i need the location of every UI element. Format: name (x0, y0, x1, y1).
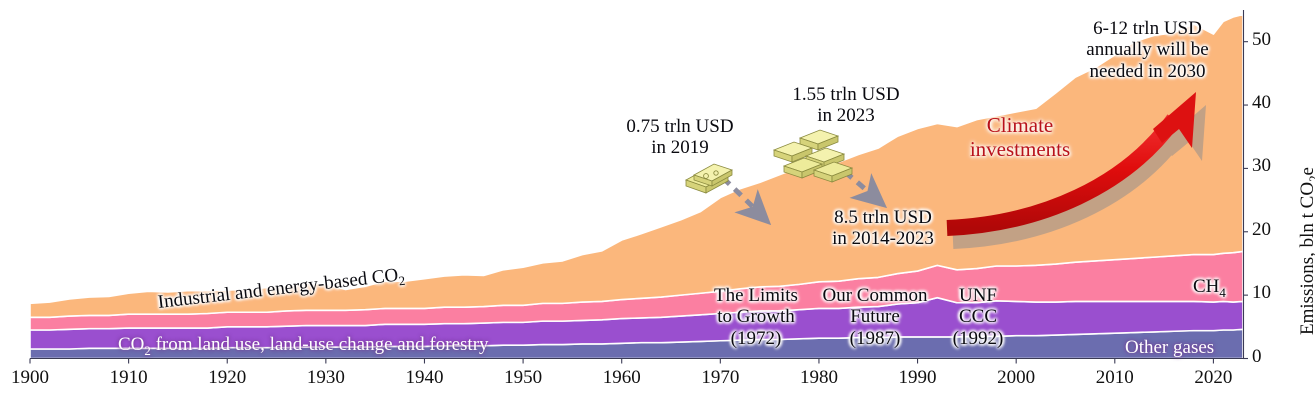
milestone-line: Our Common (816, 285, 934, 306)
x-tick-label: 1910 (103, 367, 155, 389)
annotation-line: in 2019 (600, 137, 760, 158)
annotation-invest-2030: 6-12 trln USD annually will be needed in… (1060, 18, 1235, 82)
chart-root: 0.75 trln USD in 2019 1.55 trln USD in 2… (0, 0, 1315, 406)
annotation-line: 6-12 trln USD (1060, 18, 1235, 39)
money-stack-icon (686, 164, 732, 193)
y-tick-label: 0 (1252, 346, 1262, 368)
milestone-limits-to-growth: The Limits to Growth (1972) (701, 285, 811, 349)
x-tick-label: 1960 (596, 367, 648, 389)
annotation-invest-decade: 8.5 trln USD in 2014-2023 (803, 207, 963, 250)
annotation-line: 0.75 trln USD (600, 116, 760, 137)
x-tick-label: 1970 (694, 367, 746, 389)
x-tick-label: 1980 (793, 367, 845, 389)
x-tick-label: 2010 (1089, 367, 1141, 389)
y-tick-label: 10 (1252, 282, 1271, 304)
annotation-line: 8.5 trln USD (803, 207, 963, 228)
milestone-line: CCC (940, 306, 1016, 327)
area-label-other-gases: Other gases (1125, 337, 1214, 358)
y-axis-title-text: Emissions, bln t CO (1297, 182, 1315, 335)
y-tick-label: 50 (1252, 29, 1271, 51)
y-tick-label: 40 (1252, 92, 1271, 114)
y-tick-label: 20 (1252, 219, 1271, 241)
annotation-line: in 2014-2023 (803, 228, 963, 249)
area-label-sub: 4 (1219, 285, 1225, 300)
annotation-climate-investments: Climate investments (950, 114, 1090, 161)
milestone-line: UNF (940, 285, 1016, 306)
milestone-line: (1987) (816, 328, 934, 349)
y-tick-label: 30 (1252, 155, 1271, 177)
area-label-text2: from land use, land-use change and fores… (151, 334, 489, 355)
x-tick-label: 1990 (892, 367, 944, 389)
annotation-invest-2023: 1.55 trln USD in 2023 (766, 84, 926, 127)
annotation-line: in 2023 (766, 105, 926, 126)
x-tick-label: 2020 (1187, 367, 1239, 389)
milestone-our-common-future: Our Common Future (1987) (816, 285, 934, 349)
annotation-line: investments (950, 138, 1090, 162)
annotation-line: Climate (950, 114, 1090, 138)
annotation-line: needed in 2030 (1060, 61, 1235, 82)
y-axis-title: Emissions, bln t CO2e (1297, 167, 1315, 335)
milestone-line: (1972) (701, 328, 811, 349)
milestone-line: Future (816, 306, 934, 327)
y-axis-title-suffix: e (1297, 167, 1315, 175)
milestone-unfccc: UNF CCC (1992) (940, 285, 1016, 349)
milestone-line: to Growth (701, 306, 811, 327)
annotation-line: 1.55 trln USD (766, 84, 926, 105)
x-tick-label: 1930 (300, 367, 352, 389)
x-tick-label: 1900 (4, 367, 56, 389)
annotation-invest-2019: 0.75 trln USD in 2019 (600, 116, 760, 159)
x-tick-label: 1950 (497, 367, 549, 389)
area-label-landuse-co2: CO2 from land use, land-use change and f… (118, 334, 489, 358)
milestone-line: The Limits (701, 285, 811, 306)
x-tick-label: 2000 (990, 367, 1042, 389)
y-axis-title-sub: 2 (1306, 175, 1315, 181)
area-label-text: Other gases (1125, 337, 1214, 358)
area-label-text: CH (1193, 276, 1219, 297)
area-label-ch4: CH4 (1193, 276, 1226, 300)
x-tick-label: 1940 (398, 367, 450, 389)
x-tick-label: 1920 (201, 367, 253, 389)
annotation-line: annually will be (1060, 39, 1235, 60)
area-label-text: CO (118, 334, 144, 355)
milestone-line: (1992) (940, 328, 1016, 349)
